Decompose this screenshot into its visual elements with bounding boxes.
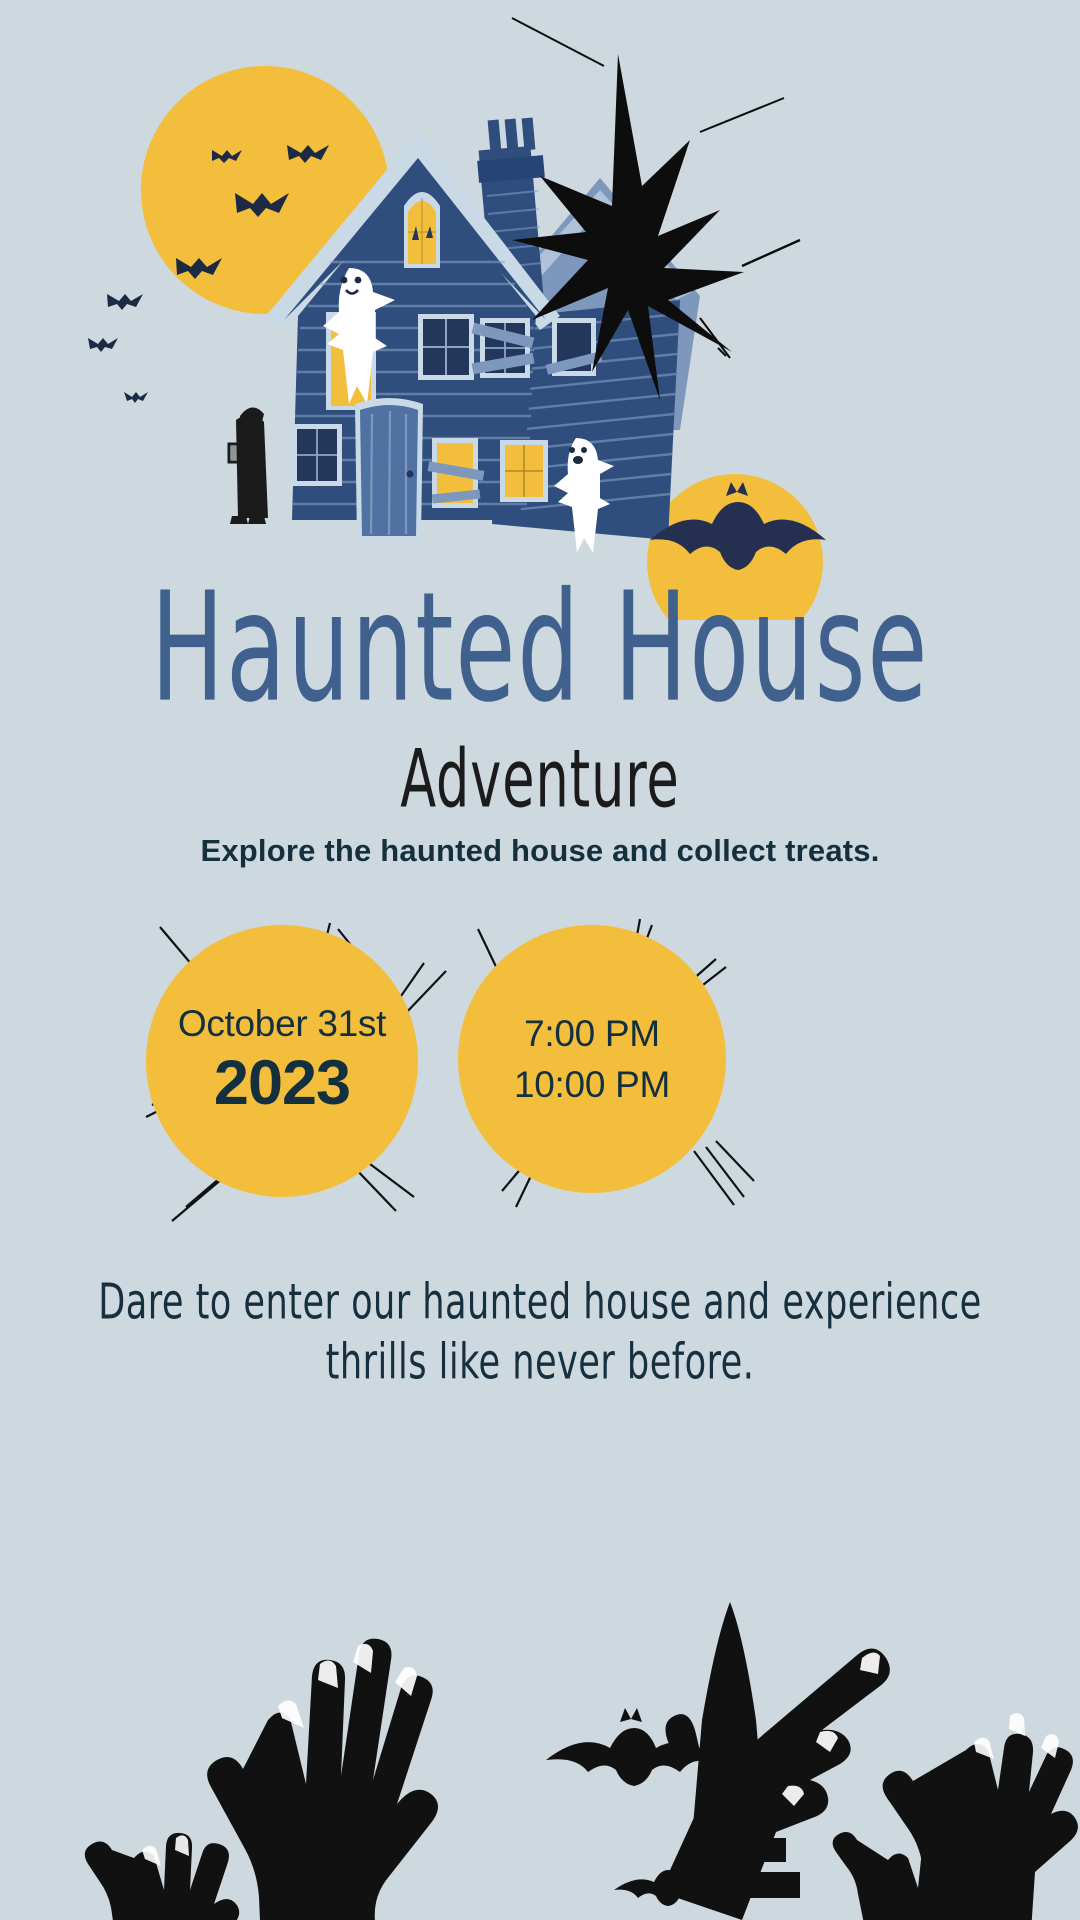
- event-time-badge: 7:00 PM 10:00 PM: [458, 925, 726, 1193]
- event-date-label: October 31st: [178, 1003, 386, 1045]
- footer-silhouette-illustration: [0, 1420, 1080, 1920]
- poster-subtitle: Adventure: [32, 739, 1047, 820]
- event-time-end: 10:00 PM: [514, 1059, 670, 1110]
- grim-reaper-icon: [229, 407, 268, 524]
- poster-tagline: Explore the haunted house and collect tr…: [0, 833, 1080, 869]
- halloween-poster: Haunted House Adventure Explore the haun…: [0, 0, 1080, 1920]
- zombie-hand-icon: [85, 1833, 239, 1920]
- event-time-start: 7:00 PM: [524, 1008, 660, 1059]
- event-date-badge: October 31st 2023: [146, 925, 418, 1197]
- event-info-section: October 31st 2023 7:00 PM 10:00 PM: [0, 905, 1080, 1245]
- poster-message: Dare to enter our haunted house and expe…: [0, 1272, 1080, 1391]
- message-line-2: thrills like never before.: [38, 1327, 1042, 1396]
- zombie-hand-icon: [207, 1639, 438, 1920]
- event-year: 2023: [214, 1047, 350, 1119]
- message-line-1: Dare to enter our haunted house and expe…: [38, 1267, 1042, 1336]
- hero-illustration: [0, 0, 1080, 620]
- poster-title: Haunted House: [43, 578, 1037, 717]
- title-block: Haunted House Adventure: [0, 578, 1080, 801]
